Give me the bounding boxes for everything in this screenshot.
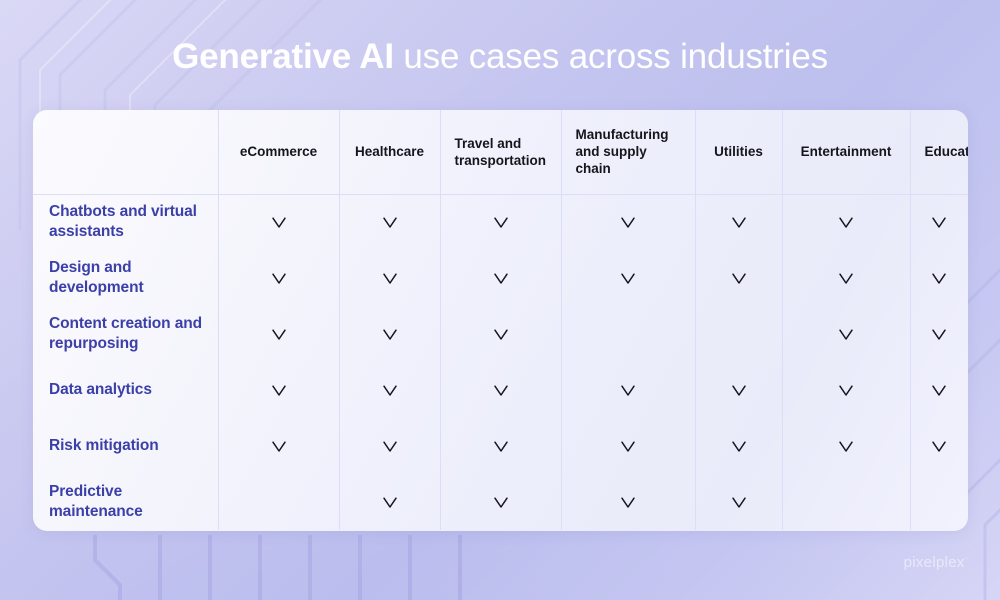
- check-mark-icon: [381, 213, 399, 231]
- table-row: Chatbots and virtual assistants: [33, 194, 968, 250]
- matrix-cell-checked: [218, 418, 339, 474]
- matrix-cell-checked: [339, 418, 440, 474]
- row-label-content-creation-and-repurposing: Content creation and repurposing: [33, 306, 218, 362]
- check-mark-icon: [270, 269, 288, 287]
- matrix-cell-checked: [440, 362, 561, 418]
- check-mark-icon: [381, 493, 399, 511]
- check-mark-icon: [930, 269, 948, 287]
- matrix-cell-checked: [561, 250, 695, 306]
- column-header-travel-and-transportation: Travel and transportation: [440, 110, 561, 194]
- use-case-matrix-table: eCommerceHealthcareTravel and transporta…: [33, 110, 968, 530]
- matrix-cell-empty: [561, 306, 695, 362]
- check-mark-icon: [837, 325, 855, 343]
- check-mark-icon: [381, 269, 399, 287]
- matrix-cell-checked: [339, 474, 440, 530]
- check-mark-icon: [837, 381, 855, 399]
- use-case-matrix-card: eCommerceHealthcareTravel and transporta…: [33, 110, 968, 531]
- column-header-ecommerce: eCommerce: [218, 110, 339, 194]
- matrix-cell-checked: [218, 250, 339, 306]
- matrix-cell-checked: [218, 362, 339, 418]
- check-mark-icon: [619, 381, 637, 399]
- matrix-cell-checked: [440, 418, 561, 474]
- check-mark-icon: [730, 213, 748, 231]
- matrix-cell-empty: [218, 474, 339, 530]
- column-header-entertainment: Entertainment: [782, 110, 910, 194]
- page-title-rest: use cases across industries: [394, 37, 828, 76]
- check-mark-icon: [837, 437, 855, 455]
- matrix-cell-checked: [695, 194, 782, 250]
- pixelplex-logo-mark: ·: [965, 553, 968, 563]
- matrix-cell-checked: [218, 306, 339, 362]
- check-mark-icon: [930, 437, 948, 455]
- table-row: Risk mitigation: [33, 418, 968, 474]
- check-mark-icon: [619, 269, 637, 287]
- matrix-cell-checked: [440, 194, 561, 250]
- row-label-data-analytics: Data analytics: [33, 362, 218, 418]
- check-mark-icon: [381, 437, 399, 455]
- table-body: Chatbots and virtual assistantsDesign an…: [33, 194, 968, 530]
- check-mark-icon: [270, 437, 288, 455]
- check-mark-icon: [492, 213, 510, 231]
- page-title-strong: Generative AI: [172, 37, 394, 76]
- check-mark-icon: [730, 437, 748, 455]
- check-mark-icon: [270, 325, 288, 343]
- matrix-cell-checked: [561, 194, 695, 250]
- matrix-cell-checked: [910, 418, 968, 474]
- check-mark-icon: [730, 493, 748, 511]
- check-mark-icon: [619, 437, 637, 455]
- infographic-canvas: Generative AI use cases across industrie…: [0, 0, 1000, 600]
- matrix-cell-checked: [440, 250, 561, 306]
- matrix-cell-checked: [910, 194, 968, 250]
- pixelplex-logo: pixelplex·: [904, 553, 968, 571]
- row-label-design-and-development: Design and development: [33, 250, 218, 306]
- matrix-cell-checked: [695, 474, 782, 530]
- check-mark-icon: [930, 381, 948, 399]
- matrix-cell-checked: [440, 474, 561, 530]
- check-mark-icon: [381, 381, 399, 399]
- check-mark-icon: [492, 381, 510, 399]
- table-row: Data analytics: [33, 362, 968, 418]
- check-mark-icon: [381, 325, 399, 343]
- check-mark-icon: [492, 437, 510, 455]
- check-mark-icon: [619, 213, 637, 231]
- row-label-risk-mitigation: Risk mitigation: [33, 418, 218, 474]
- matrix-cell-checked: [782, 418, 910, 474]
- matrix-cell-empty: [695, 306, 782, 362]
- check-mark-icon: [837, 269, 855, 287]
- check-mark-icon: [730, 381, 748, 399]
- matrix-cell-checked: [561, 362, 695, 418]
- matrix-cell-checked: [782, 194, 910, 250]
- matrix-cell-checked: [782, 362, 910, 418]
- matrix-cell-checked: [339, 250, 440, 306]
- table-header-row: eCommerceHealthcareTravel and transporta…: [33, 110, 968, 194]
- matrix-cell-checked: [339, 194, 440, 250]
- matrix-cell-checked: [561, 418, 695, 474]
- check-mark-icon: [930, 325, 948, 343]
- check-mark-icon: [492, 493, 510, 511]
- pixelplex-logo-text: pixelplex: [904, 554, 965, 571]
- check-mark-icon: [837, 213, 855, 231]
- column-header-manufacturing-and-supply-chain: Manufacturing and supply chain: [561, 110, 695, 194]
- matrix-cell-checked: [339, 306, 440, 362]
- column-header-education: Education: [910, 110, 968, 194]
- table-row: Design and development: [33, 250, 968, 306]
- table-row: Predictive maintenance: [33, 474, 968, 530]
- matrix-cell-empty: [910, 474, 968, 530]
- column-header-corner: [33, 110, 218, 194]
- matrix-cell-checked: [218, 194, 339, 250]
- matrix-cell-checked: [782, 250, 910, 306]
- matrix-cell-checked: [561, 474, 695, 530]
- row-label-chatbots-and-virtual-assistants: Chatbots and virtual assistants: [33, 194, 218, 250]
- check-mark-icon: [492, 269, 510, 287]
- column-header-healthcare: Healthcare: [339, 110, 440, 194]
- matrix-cell-checked: [910, 362, 968, 418]
- check-mark-icon: [619, 493, 637, 511]
- check-mark-icon: [730, 269, 748, 287]
- page-title: Generative AI use cases across industrie…: [0, 36, 1000, 78]
- matrix-cell-checked: [695, 362, 782, 418]
- check-mark-icon: [492, 325, 510, 343]
- matrix-cell-checked: [910, 306, 968, 362]
- table-row: Content creation and repurposing: [33, 306, 968, 362]
- matrix-cell-checked: [782, 306, 910, 362]
- table-header: eCommerceHealthcareTravel and transporta…: [33, 110, 968, 194]
- matrix-cell-checked: [695, 418, 782, 474]
- check-mark-icon: [930, 213, 948, 231]
- column-header-utilities: Utilities: [695, 110, 782, 194]
- matrix-cell-checked: [339, 362, 440, 418]
- matrix-cell-empty: [782, 474, 910, 530]
- check-mark-icon: [270, 213, 288, 231]
- matrix-cell-checked: [910, 250, 968, 306]
- row-label-predictive-maintenance: Predictive maintenance: [33, 474, 218, 530]
- matrix-cell-checked: [695, 250, 782, 306]
- check-mark-icon: [270, 381, 288, 399]
- matrix-cell-checked: [440, 306, 561, 362]
